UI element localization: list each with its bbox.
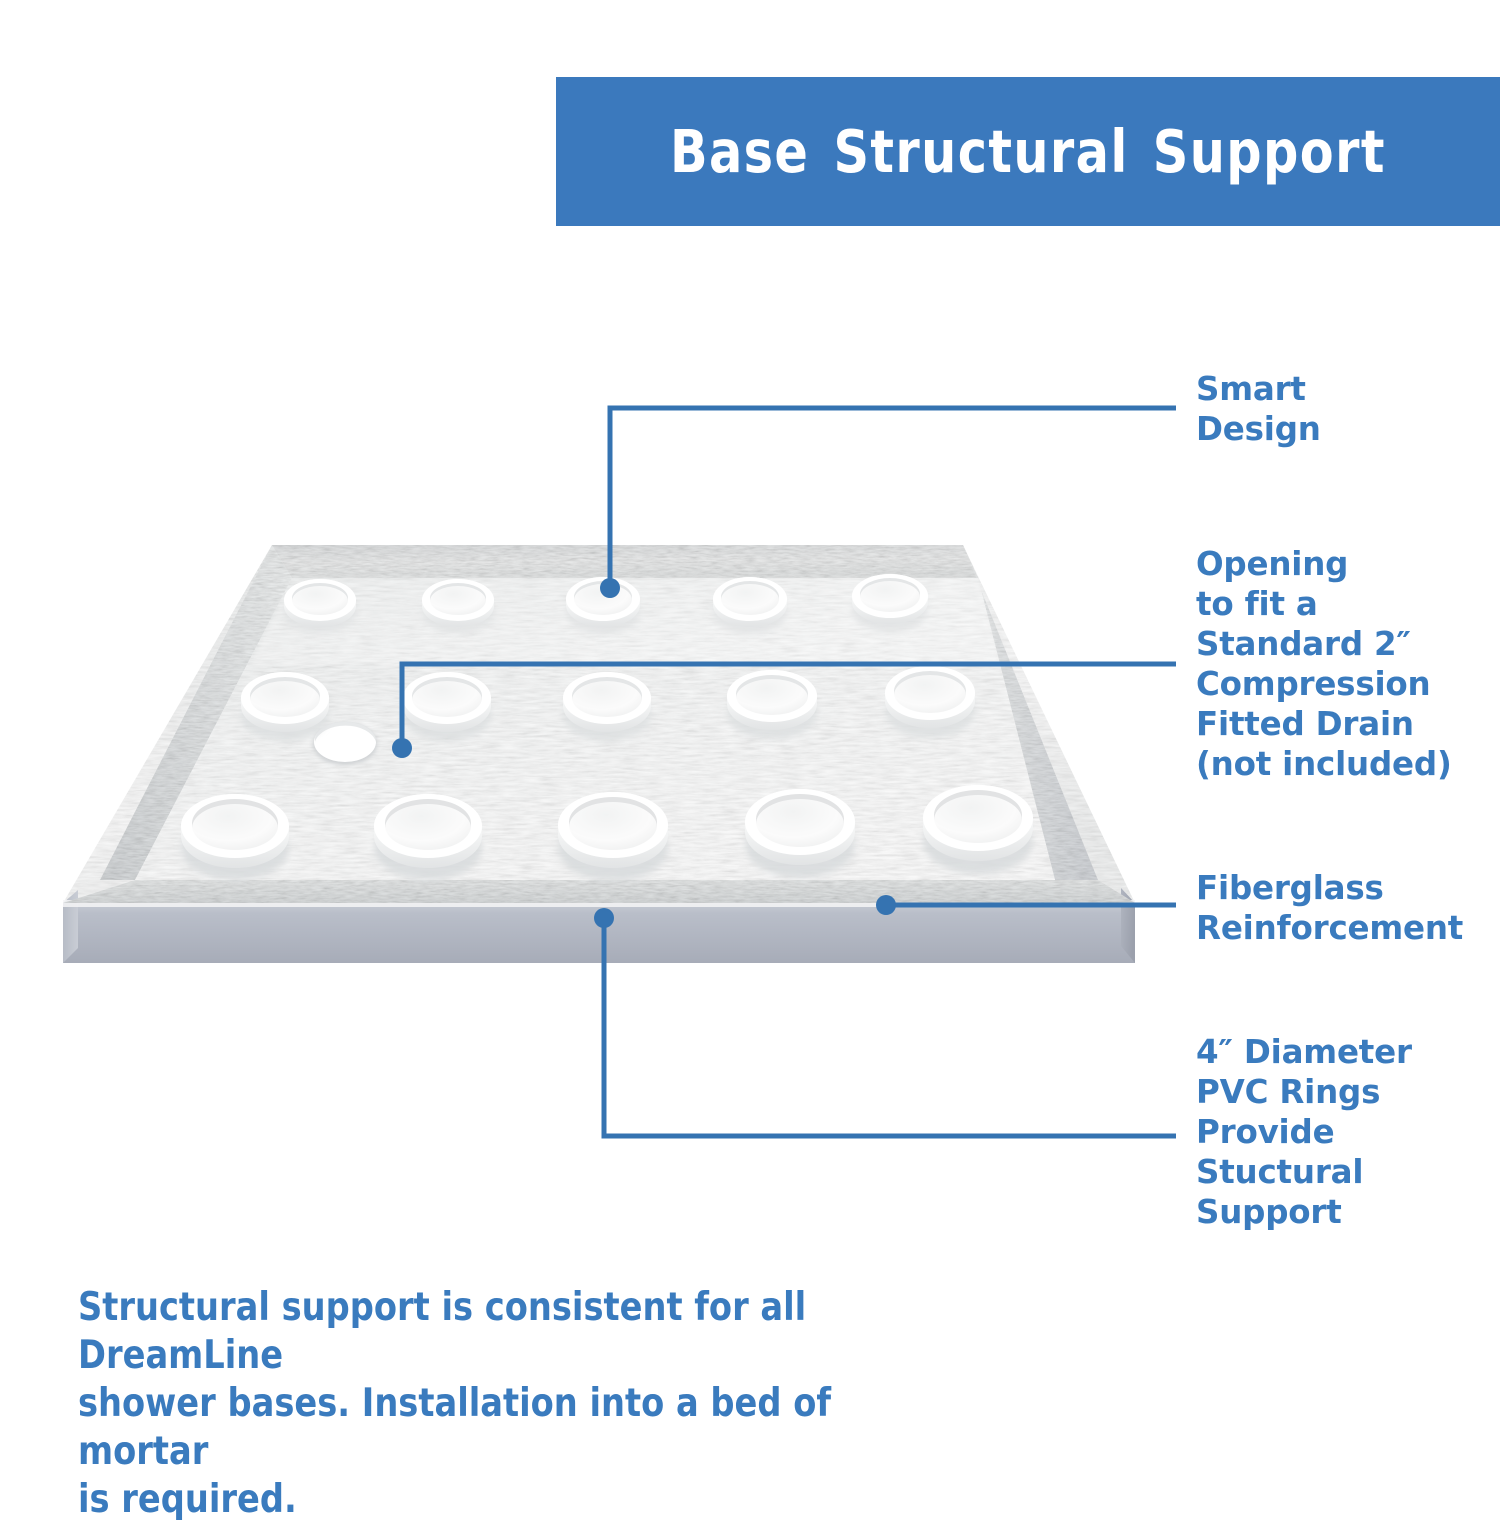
rim-front: [63, 880, 1135, 903]
pvc-ring: [422, 579, 494, 633]
pvc-ring: [181, 794, 289, 880]
pvc-ring: [403, 672, 491, 741]
pvc-ring: [745, 789, 855, 878]
callout-label-pvc-rings: 4″ Diameter PVC Rings Provide Stuctural …: [1196, 1032, 1412, 1232]
rim-back: [272, 545, 978, 578]
pvc-ring: [558, 792, 668, 881]
pvc-ring: [923, 785, 1033, 874]
pvc-ring: [374, 794, 482, 880]
footnote-text: Structural support is consistent for all…: [78, 1284, 961, 1524]
callout-label-drain-opening: Opening to fit a Standard 2″ Compression…: [1196, 544, 1452, 784]
pvc-ring: [284, 579, 356, 633]
base-front-edge: [63, 903, 1135, 963]
pvc-ring: [727, 670, 817, 739]
infographic-canvas: Base Structural Support Smart Design Ope…: [0, 0, 1500, 1500]
pvc-ring: [241, 672, 329, 741]
callout-label-smart-design: Smart Design: [1196, 369, 1321, 449]
page-title: Base Structural Support: [670, 117, 1386, 186]
pvc-ring: [713, 577, 787, 634]
pvc-ring: [852, 574, 928, 632]
pvc-ring: [566, 577, 640, 634]
header-banner: Base Structural Support: [556, 77, 1500, 226]
pvc-ring: [563, 672, 651, 741]
callout-label-fiberglass-reinforcement: Fiberglass Reinforcement: [1196, 868, 1463, 948]
pvc-ring: [885, 666, 975, 738]
